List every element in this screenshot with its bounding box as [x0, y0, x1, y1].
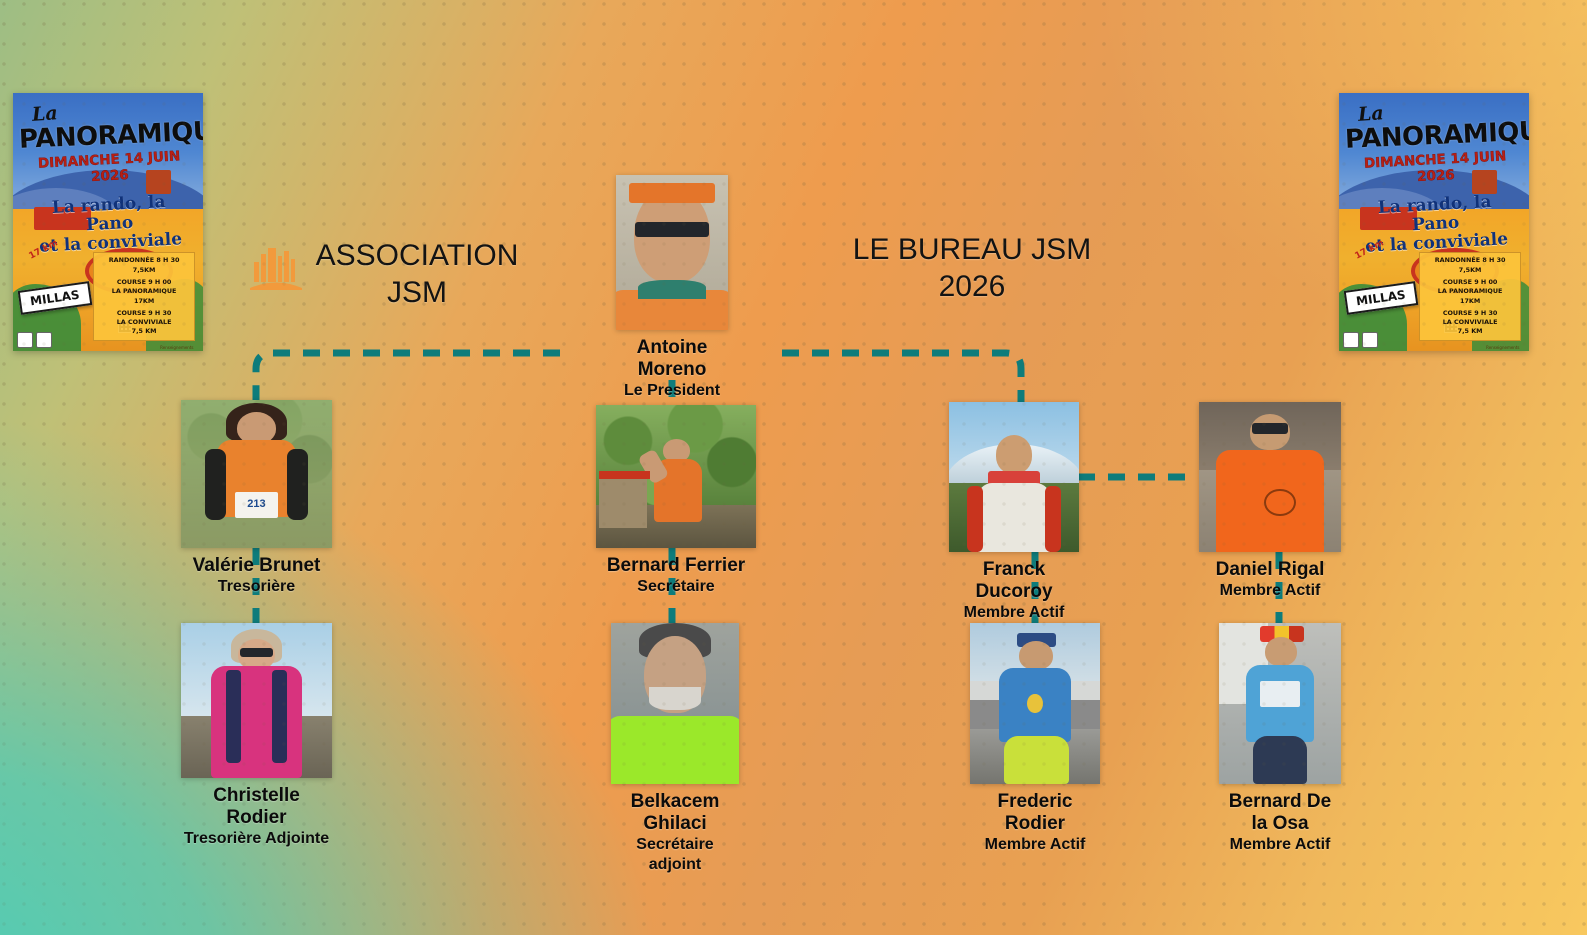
member-photo-membre-frederic[interactable] — [970, 623, 1100, 784]
member-name-membre-frederic: Frederic Rodier — [970, 791, 1100, 835]
poster-sponsor-logos — [17, 332, 52, 348]
poster-2-info-2: COURSE 9 H 00 — [1422, 278, 1519, 287]
member-label-secretaire: Bernard Ferrier Secrétaire — [596, 555, 756, 597]
poster-2-info-7: 7,5 KM — [1422, 327, 1519, 336]
member-card-tresoriere[interactable]: 213 Valérie Brunet Tresorière — [181, 400, 332, 597]
member-label-membre-bernard: Bernard De la Osa Membre Actif — [1219, 791, 1341, 855]
member-label-membre-franck: Franck Ducoroy Membre Actif — [949, 559, 1079, 623]
member-role-membre-franck: Membre Actif — [949, 603, 1079, 623]
member-name-president: Antoine Moreno — [616, 337, 728, 381]
member-role-membre-bernard: Membre Actif — [1219, 835, 1341, 855]
poster-info-2: COURSE 9 H 00 — [96, 278, 193, 287]
member-label-membre-frederic: Frederic Rodier Membre Actif — [970, 791, 1100, 855]
poster-2-info-4: 17KM — [1422, 297, 1519, 306]
event-poster-left: La PANORAMIQUE DIMANCHE 14 JUIN 2026 La … — [13, 93, 203, 351]
member-photo-membre-franck[interactable] — [949, 402, 1079, 552]
bureau-title-line1: LE BUREAU JSM — [842, 232, 1102, 269]
poster-info-4: 17KM — [96, 297, 193, 306]
poster-info-3: LA PANORAMIQUE — [96, 287, 193, 296]
member-photo-secretaire[interactable] — [596, 405, 756, 548]
member-role-tresoriere: Tresorière — [181, 577, 332, 597]
bureau-title: LE BUREAU JSM 2026 — [842, 232, 1102, 305]
poster-sponsor-logos-2 — [1343, 332, 1378, 348]
member-name-tresoriere: Valérie Brunet — [181, 555, 332, 577]
poster-2-info-3: LA PANORAMIQUE — [1422, 287, 1519, 296]
member-photo-membre-daniel[interactable] — [1199, 402, 1341, 552]
member-role-secretaire-adjoint: Secrétaire adjoint — [611, 835, 739, 875]
member-name-membre-franck: Franck Ducoroy — [949, 559, 1079, 603]
poster-credit-2: Renseignements — [1486, 345, 1519, 350]
member-role-tresoriere-adjointe: Tresorière Adjointe — [181, 829, 332, 849]
member-role-president: Le President — [616, 381, 728, 401]
member-card-tresoriere-adjointe[interactable]: Christelle Rodier Tresorière Adjointe — [181, 623, 332, 849]
member-label-tresoriere-adjointe: Christelle Rodier Tresorière Adjointe — [181, 785, 332, 849]
member-photo-president[interactable] — [616, 175, 728, 330]
poster-info-7: 7,5 KM — [96, 327, 193, 336]
member-label-membre-daniel: Daniel Rigal Membre Actif — [1199, 559, 1341, 601]
association-label-line2: JSM — [312, 275, 522, 312]
association-label: ASSOCIATION JSM — [312, 238, 522, 311]
poster-credit: Renseignements — [160, 345, 193, 350]
member-card-secretaire[interactable]: Bernard Ferrier Secrétaire — [596, 405, 756, 597]
member-card-membre-daniel[interactable]: Daniel Rigal Membre Actif — [1199, 402, 1341, 601]
poster-info-box: RANDONNÉE 8 H 30 7,5KM COURSE 9 H 00 LA … — [93, 252, 196, 340]
poster-info-0: RANDONNÉE 8 H 30 — [96, 256, 193, 265]
org-chart-canvas: La PANORAMIQUE DIMANCHE 14 JUIN 2026 La … — [0, 0, 1587, 935]
association-label-line1: ASSOCIATION — [312, 238, 522, 275]
member-card-secretaire-adjoint[interactable]: Belkacem Ghilaci Secrétaire adjoint — [611, 623, 739, 875]
member-role-membre-daniel: Membre Actif — [1199, 581, 1341, 601]
poster-2-info-0: RANDONNÉE 8 H 30 — [1422, 256, 1519, 265]
poster-2-info-6: LA CONVIVIALE — [1422, 318, 1519, 327]
member-role-secretaire: Secrétaire — [596, 577, 756, 597]
poster-info-1: 7,5KM — [96, 266, 193, 275]
member-photo-tresoriere-adjointe[interactable] — [181, 623, 332, 778]
member-photo-membre-bernard[interactable] — [1219, 623, 1341, 784]
poster-info-box-2: RANDONNÉE 8 H 30 7,5KM COURSE 9 H 00 LA … — [1419, 252, 1522, 340]
member-label-president: Antoine Moreno Le President — [616, 337, 728, 401]
poster-slogan-line1: La rando, la Pano — [52, 192, 167, 235]
member-card-membre-frederic[interactable]: Frederic Rodier Membre Actif — [970, 623, 1100, 855]
member-photo-secretaire-adjoint[interactable] — [611, 623, 739, 784]
member-label-secretaire-adjoint: Belkacem Ghilaci Secrétaire adjoint — [611, 791, 739, 875]
poster-2-info-1: 7,5KM — [1422, 266, 1519, 275]
member-name-tresoriere-adjointe: Christelle Rodier — [181, 785, 332, 829]
event-poster-right: La PANORAMIQUE DIMANCHE 14 JUIN 2026 La … — [1339, 93, 1529, 351]
member-name-secretaire: Bernard Ferrier — [596, 555, 756, 577]
association-heading: ASSOCIATION JSM — [250, 238, 522, 311]
poster-info-5: COURSE 9 H 30 — [96, 309, 193, 318]
connector-president-to-tresoriere — [256, 353, 560, 400]
member-role-membre-frederic: Membre Actif — [970, 835, 1100, 855]
building-skyline-icon — [250, 242, 302, 290]
member-name-membre-bernard: Bernard De la Osa — [1219, 791, 1341, 835]
member-photo-tresoriere[interactable]: 213 — [181, 400, 332, 548]
bureau-title-line2: 2026 — [842, 269, 1102, 306]
poster-slogan-2-line1: La rando, la Pano — [1378, 192, 1493, 235]
connector-president-to-franck — [782, 353, 1021, 402]
member-card-membre-franck[interactable]: Franck Ducoroy Membre Actif — [949, 402, 1079, 623]
member-label-tresoriere: Valérie Brunet Tresorière — [181, 555, 332, 597]
member-name-membre-daniel: Daniel Rigal — [1199, 559, 1341, 581]
member-card-membre-bernard[interactable]: Bernard De la Osa Membre Actif — [1219, 623, 1341, 855]
poster-info-6: LA CONVIVIALE — [96, 318, 193, 327]
member-name-secretaire-adjoint: Belkacem Ghilaci — [611, 791, 739, 835]
poster-2-info-5: COURSE 9 H 30 — [1422, 309, 1519, 318]
member-card-president[interactable]: Antoine Moreno Le President — [616, 175, 728, 401]
